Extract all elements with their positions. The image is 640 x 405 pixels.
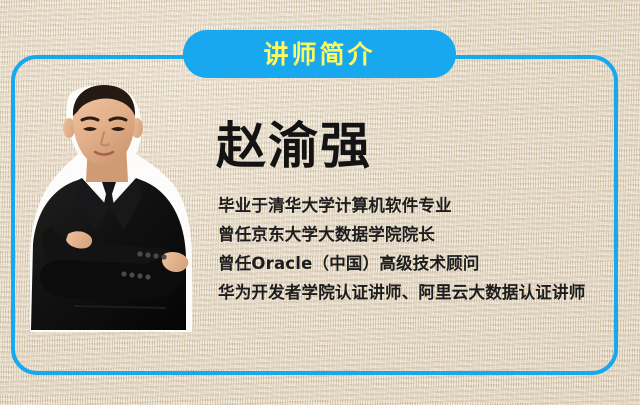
instructor-photo bbox=[16, 84, 202, 376]
bio-line: 华为开发者学院认证讲师、阿里云大数据认证讲师 bbox=[218, 278, 618, 307]
instructor-name: 赵渝强 bbox=[216, 118, 372, 174]
instructor-profile-poster: 讲师简介 赵渝强 毕业于清华大学计算机软件专业 曾任京东大学大数据学院院长 曾任… bbox=[0, 0, 640, 405]
section-title-banner: 讲师简介 bbox=[183, 30, 456, 78]
bio-line: 曾任京东大学大数据学院院长 bbox=[218, 220, 618, 249]
portrait-illustration bbox=[16, 84, 202, 376]
section-title-text: 讲师简介 bbox=[263, 42, 375, 67]
bio-line: 毕业于清华大学计算机软件专业 bbox=[218, 191, 618, 220]
bio-line: 曾任Oracle（中国）高级技术顾问 bbox=[218, 249, 618, 278]
instructor-bio-list: 毕业于清华大学计算机软件专业 曾任京东大学大数据学院院长 曾任Oracle（中国… bbox=[218, 191, 618, 307]
